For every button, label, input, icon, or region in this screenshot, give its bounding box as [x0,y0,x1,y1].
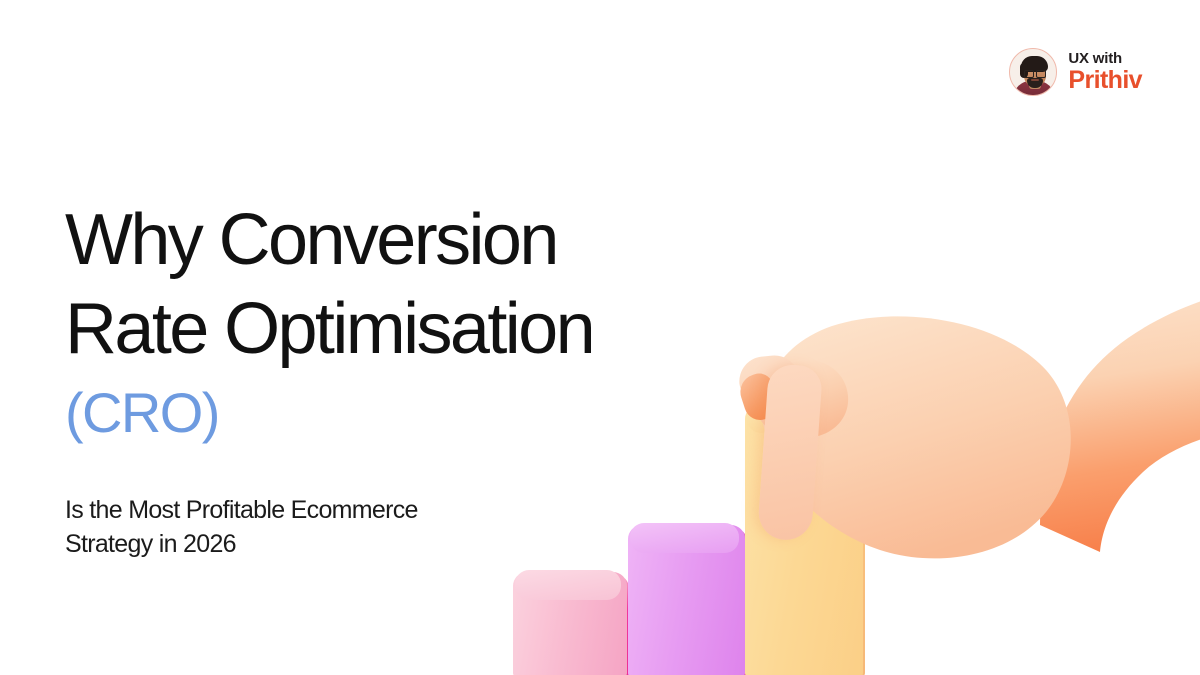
brand-logo[interactable]: UX with Prithiv [1009,48,1142,96]
arm-svg [480,120,1200,675]
brand-wordmark: UX with Prithiv [1068,51,1142,93]
slide-canvas: UX with Prithiv Why Conversion Rate Opti… [0,0,1200,675]
brand-line-1: UX with [1068,51,1142,66]
brand-line-2: Prithiv [1068,68,1142,93]
illustration-3d [480,120,1200,675]
avatar [1009,48,1057,96]
avatar-mouth [1031,79,1039,81]
arm-illustration [480,120,1200,675]
glasses-icon [1024,70,1047,76]
